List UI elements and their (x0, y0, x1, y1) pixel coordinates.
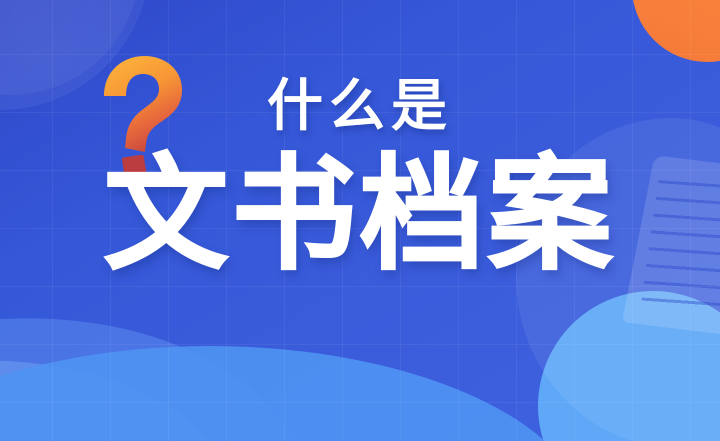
banner-hero: 什么是 文书档案 (0, 0, 720, 441)
circle-orange-top-right-decoration (632, 0, 720, 62)
wave-bottom-right-decoration (0, 346, 590, 441)
document-sheet-lines (640, 180, 720, 316)
question-mark-icon (92, 52, 188, 182)
